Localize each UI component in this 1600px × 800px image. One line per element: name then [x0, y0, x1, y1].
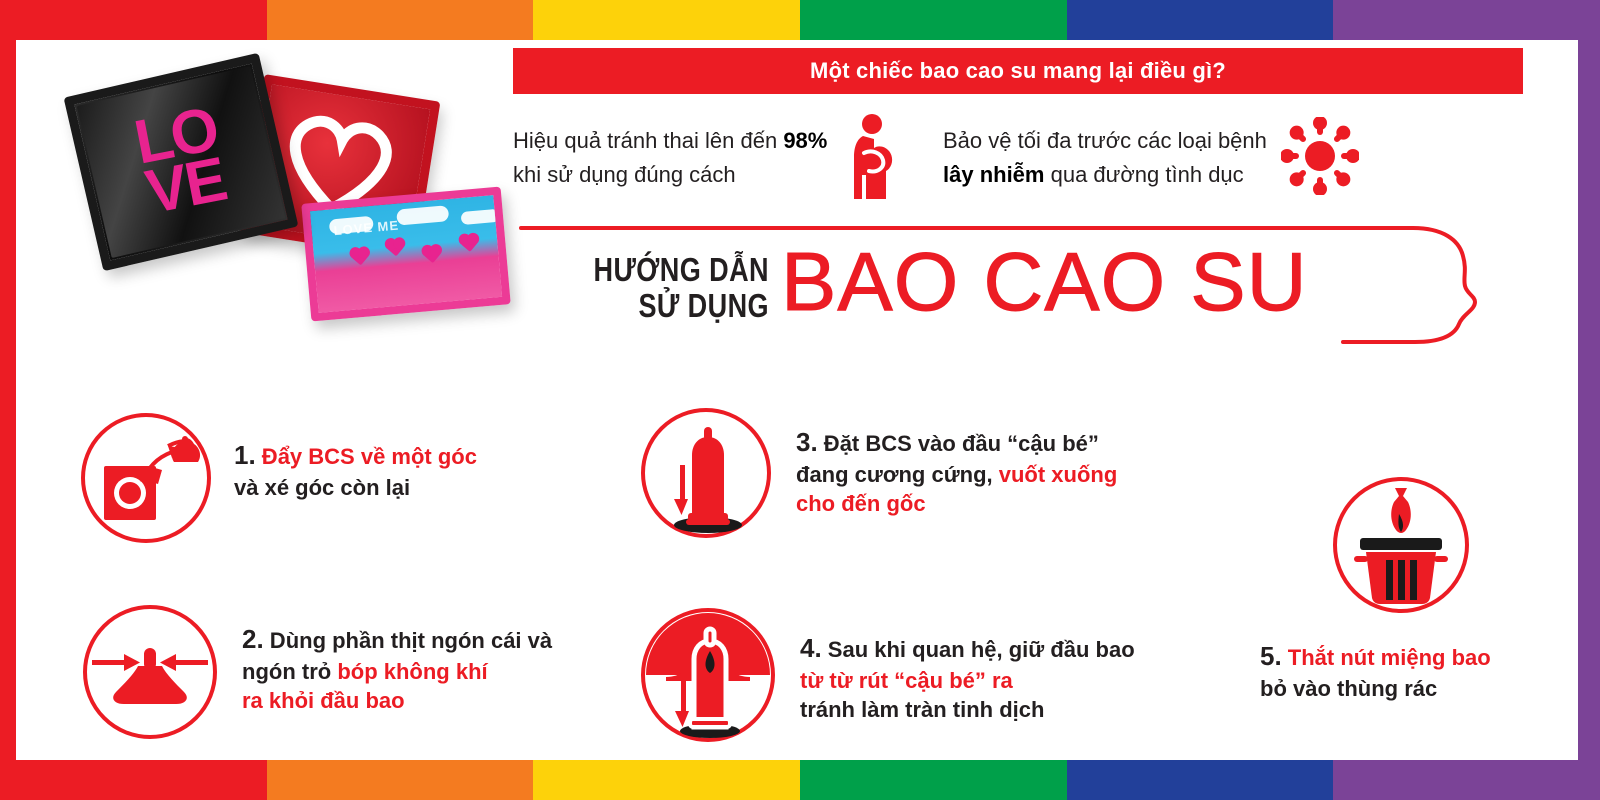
stripe-green: [800, 0, 1067, 40]
benefit-text: Hiệu quả tránh thai lên đến 98% khi sử d…: [513, 124, 827, 192]
rolled-condom-down-arrow-icon: [636, 403, 776, 548]
step-normal: Sau khi quan hệ, giữ đầu bao: [822, 637, 1135, 662]
benefit-contraception: Hiệu quả tránh thai lên đến 98% khi sử d…: [513, 108, 943, 208]
step-number: 5.: [1260, 641, 1282, 671]
rainbow-stripe-top: [0, 0, 1600, 40]
benefit-line1: Bảo vệ tối đa trước các loại bệnh: [943, 128, 1267, 153]
banner-title: Một chiếc bao cao su mang lại điều gì?: [810, 58, 1226, 84]
main-title-block: HƯỚNG DẪN SỬ DỤNG BAO CAO SU: [513, 226, 1543, 356]
step-highlight: Đẩy BCS về một góc: [256, 444, 477, 469]
knot-and-trash-bin-icon: [1326, 470, 1476, 625]
pregnant-woman-icon: [841, 113, 899, 204]
benefit-percentage: 98%: [783, 128, 827, 153]
step-5: 5. Thắt nút miệng bao bỏ vào thùng rác: [1256, 470, 1546, 703]
step-highlight-2: cho đến gốc: [796, 491, 926, 516]
stripe-green: [800, 760, 1067, 800]
step-highlight: bóp không khí: [337, 659, 487, 684]
benefit-keyword: lây nhiễm: [943, 162, 1044, 187]
benefit-sti-protection: Bảo vệ tối đa trước các loại bệnh lây nh…: [943, 108, 1543, 208]
title-guide-label: HƯỚNG DẪN SỬ DỤNG: [572, 252, 769, 323]
step-number: 2.: [242, 624, 264, 654]
rainbow-stripe-bottom: [0, 760, 1600, 800]
step-highlight: từ từ rút “cậu bé” ra: [800, 668, 1013, 693]
step-5-text: 5. Thắt nút miệng bao bỏ vào thùng rác: [1256, 625, 1546, 703]
packet-love-label: LOVE: [131, 104, 231, 219]
stripe-purple: [1333, 0, 1600, 40]
step-3-text: 3. Đặt BCS vào đầu “cậu bé” đang cương c…: [776, 403, 1176, 519]
condom-packets-photo: LOVE ME LOVE: [61, 55, 481, 355]
stripe-purple: [1333, 760, 1600, 800]
step-highlight: vuốt xuống: [999, 462, 1118, 487]
content-canvas: LOVE ME LOVE Một chiếc bao cao su mang l…: [16, 40, 1578, 760]
step-2-text: 2. Dùng phần thịt ngón cái và ngón trỏ b…: [224, 598, 572, 716]
stripe-yellow: [533, 0, 800, 40]
title-product-label: BAO CAO SU: [781, 240, 1308, 323]
stripe-orange: [267, 0, 534, 40]
black-love-packet: LOVE: [64, 53, 299, 271]
right-edge-purple-band: [1578, 0, 1600, 800]
step-number: 1.: [234, 440, 256, 470]
step-highlight: Thắt nút miệng bao: [1282, 645, 1491, 670]
step-number: 4.: [800, 633, 822, 663]
step-1: 1. Đẩy BCS về một góc và xé góc còn lại: [76, 408, 534, 553]
benefit-line2: khi sử dụng đúng cách: [513, 162, 736, 187]
virus-icon: [1281, 117, 1359, 200]
step-4: 4. Sau khi quan hệ, giữ đầu bao từ từ rú…: [636, 603, 1200, 752]
blue-pink-hearts-packet: LOVE ME: [301, 187, 511, 322]
benefit-text: Bảo vệ tối đa trước các loại bệnh lây nh…: [943, 124, 1267, 192]
stripe-red: [0, 760, 267, 800]
step-1-text: 1. Đẩy BCS về một góc và xé góc còn lại: [216, 408, 534, 502]
step-normal: bỏ vào thùng rác: [1260, 676, 1437, 701]
title-line1: HƯỚNG DẪN: [593, 251, 769, 288]
infographic-poster: LOVE ME LOVE Một chiếc bao cao su mang l…: [0, 0, 1600, 800]
step-2: 2. Dùng phần thịt ngón cái và ngón trỏ b…: [76, 598, 572, 751]
step-normal-2: tránh làm tràn tinh dịch: [800, 697, 1044, 722]
step-highlight-2: ra khỏi đầu bao: [242, 688, 405, 713]
step-normal: Đặt BCS vào đầu “cậu bé”: [818, 431, 1099, 456]
step-normal-2: ngón trỏ: [242, 659, 337, 684]
withdraw-hold-base-icon: [636, 603, 780, 752]
stripe-orange: [267, 760, 534, 800]
step-3: 3. Đặt BCS vào đầu “cậu bé” đang cương c…: [636, 403, 1176, 548]
squeeze-tip-arrows-icon: [76, 598, 224, 751]
benefit-line1-pre: Hiệu quả tránh thai lên đến: [513, 128, 783, 153]
stripe-blue: [1067, 760, 1334, 800]
step-normal: Dùng phần thịt ngón cái và: [264, 628, 552, 653]
step-4-text: 4. Sau khi quan hệ, giữ đầu bao từ từ rú…: [780, 603, 1200, 725]
title-line2: SỬ DỤNG: [638, 287, 769, 324]
stripe-yellow: [533, 760, 800, 800]
benefits-row: Hiệu quả tránh thai lên đến 98% khi sử d…: [513, 108, 1543, 208]
packet-tear-corner-icon: [76, 408, 216, 553]
left-edge-red-band: [0, 0, 16, 800]
step-normal: và xé góc còn lại: [234, 475, 410, 500]
stripe-blue: [1067, 0, 1334, 40]
stripe-red: [0, 0, 267, 40]
step-normal-2: đang cương cứng,: [796, 462, 999, 487]
step-number: 3.: [796, 427, 818, 457]
benefit-line2-post: qua đường tình dục: [1044, 162, 1243, 187]
header-banner: Một chiếc bao cao su mang lại điều gì?: [513, 48, 1523, 94]
